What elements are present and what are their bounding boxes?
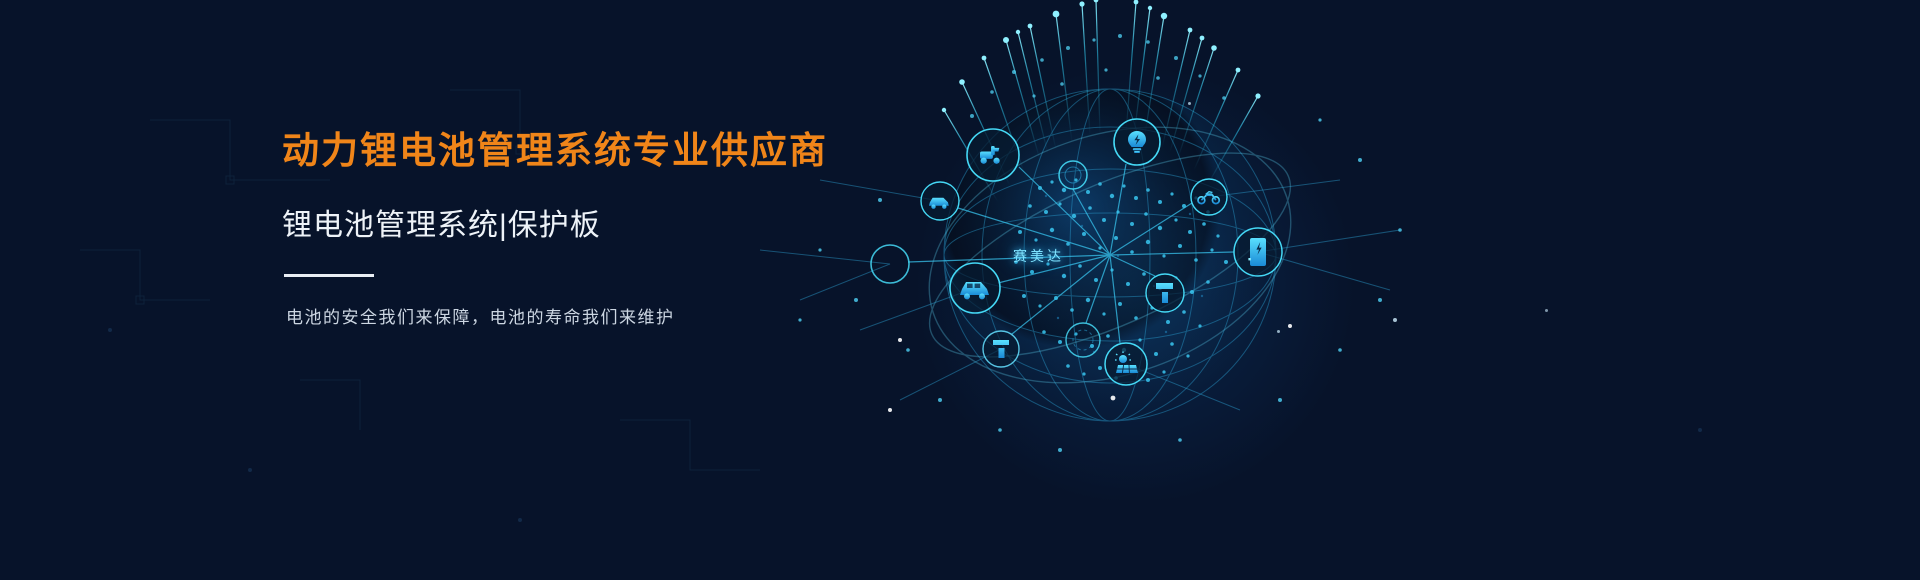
node-lightbulb-bolt	[1114, 119, 1160, 165]
sparkle-dot	[1277, 330, 1280, 333]
node-electric-scooter	[967, 129, 1019, 181]
node-motorcycle	[1191, 179, 1227, 215]
node-drill	[983, 331, 1019, 367]
node-small-car	[921, 182, 959, 220]
hero-banner: 动力锂电池管理系统专业供应商 锂电池管理系统|保护板 电池的安全我们来保障，电池…	[0, 0, 1920, 580]
hero-subtitle: 锂电池管理系统|保护板	[282, 200, 902, 244]
sparkle-dot	[1393, 318, 1397, 322]
page-title: 动力锂电池管理系统专业供应商	[282, 128, 902, 174]
node-solar-panel	[1105, 343, 1147, 385]
node-power-tool	[1146, 274, 1184, 312]
sparkle-dot	[1545, 309, 1548, 312]
node-battery-device	[1234, 228, 1282, 276]
network-globe-graphic	[845, 0, 1465, 580]
node-car	[950, 263, 1000, 313]
hero-tagline: 电池的安全我们来保障，电池的寿命我们来维护	[286, 303, 902, 328]
title-divider	[284, 274, 374, 277]
hero-text-block: 动力锂电池管理系统专业供应商 锂电池管理系统|保护板 电池的安全我们来保障，电池…	[282, 128, 902, 328]
sparkle-dot	[1188, 102, 1191, 105]
